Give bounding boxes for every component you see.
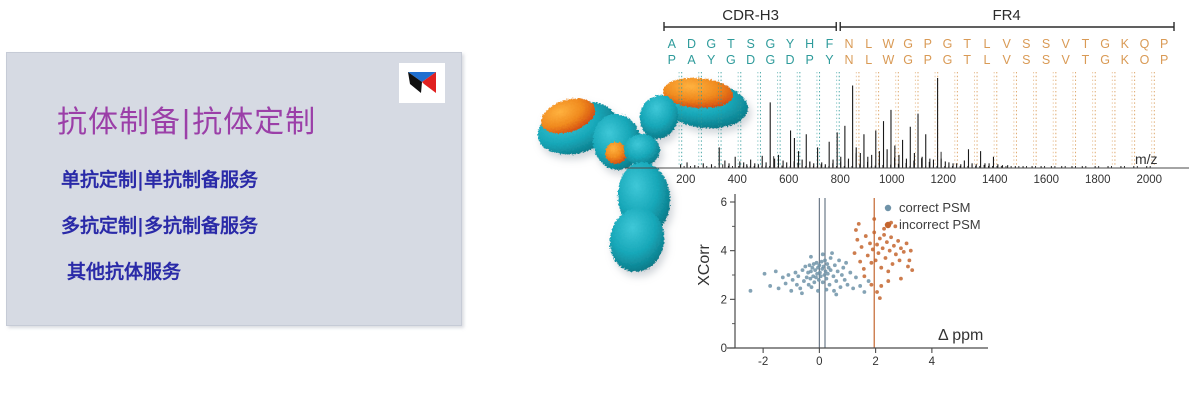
sequence-residue: G — [943, 37, 953, 51]
scatter-point-incorrect — [889, 235, 893, 239]
scatter-point-correct — [789, 289, 793, 293]
scatter-point-correct — [801, 268, 805, 272]
scatter-point-incorrect — [885, 240, 889, 244]
sequence-residue: S — [1022, 53, 1030, 67]
scatter-point-correct — [749, 289, 753, 293]
region-label-fr4: FR4 — [992, 7, 1020, 24]
scatter-point-correct — [768, 284, 772, 288]
legend-label: correct PSM — [899, 200, 971, 215]
sequence-residue: S — [746, 37, 754, 51]
spectrum-x-tick-label: 200 — [676, 174, 695, 186]
spectrum-x-tick-label: 1400 — [982, 174, 1008, 186]
spectrum-x-tick-label: 1600 — [1033, 174, 1059, 186]
scatter-point-incorrect — [854, 228, 858, 232]
sequence-residue: A — [687, 53, 696, 67]
scatter-y-tick-label: 6 — [721, 197, 727, 209]
sequence-row-1: ADGTSGYHFNLWGPGTLVSSVTGKQP — [668, 37, 1169, 51]
scatter-y-tick-label: 4 — [721, 246, 728, 258]
sequence-residue: P — [924, 53, 932, 67]
sequence-residue: P — [924, 37, 932, 51]
scatter-point-correct — [830, 251, 834, 255]
scatter-point-correct — [825, 288, 829, 292]
sequence-residue: V — [1002, 37, 1011, 51]
scatter-point-correct — [817, 263, 821, 267]
scatter-point-incorrect — [853, 251, 857, 255]
scatter-point-incorrect — [855, 238, 859, 242]
scatter-point-correct — [844, 261, 848, 265]
scatter-point-incorrect — [872, 231, 876, 235]
spectrum-x-tick-label: 800 — [831, 174, 850, 186]
scatter-point-correct — [784, 282, 788, 286]
scatter-y-tick-label: 0 — [721, 343, 727, 355]
scatter-point-incorrect — [875, 290, 879, 294]
scatter-point-correct — [826, 272, 830, 276]
legend-marker — [885, 205, 891, 211]
scatter-point-incorrect — [886, 269, 890, 273]
scatter-point-incorrect — [882, 233, 886, 237]
scatter-point-incorrect — [881, 246, 885, 250]
sequence-residue: K — [1121, 53, 1130, 67]
sequence-residue: P — [668, 53, 676, 67]
scatter-point-incorrect — [878, 296, 882, 300]
scatter-point-correct — [777, 286, 781, 290]
scatter-point-incorrect — [877, 251, 881, 255]
scatter-point-correct — [862, 290, 866, 294]
screenshot-root: 抗体制备|抗体定制 单抗定制|单抗制备服务 多抗定制|多抗制备服务 其他抗体服务 — [0, 0, 1200, 400]
sequence-residue: T — [727, 37, 735, 51]
scatter-point-incorrect — [862, 274, 866, 278]
scatter-x-tick-label: 0 — [816, 356, 822, 368]
sequence-residue: D — [785, 53, 794, 67]
scatter-point-correct — [809, 255, 813, 259]
scatter-point-correct — [823, 259, 827, 263]
scatter-point-correct — [816, 289, 820, 293]
spectrum-x-axis-label: m/z — [1135, 151, 1158, 167]
scatter-point-correct — [805, 276, 809, 280]
sequence-residue: G — [903, 37, 913, 51]
scatter-point-correct — [810, 285, 814, 289]
scatter-point-incorrect — [906, 265, 910, 269]
scatter-x-tick-label: 4 — [929, 356, 936, 368]
spectrum-x-ticks: 200400600800100012001400160018002000 — [676, 174, 1162, 186]
sequence-residue: D — [687, 37, 696, 51]
scatter-point-correct — [843, 278, 847, 282]
scatter-point-correct — [846, 283, 850, 287]
scatter-point-incorrect — [872, 217, 876, 221]
scatter-point-correct — [787, 273, 791, 277]
scatter-point-incorrect — [888, 249, 892, 253]
scatter-point-correct — [867, 279, 871, 283]
scatter-point-incorrect — [882, 227, 886, 231]
spectrum-x-tick-label: 400 — [728, 174, 747, 186]
scatter-point-correct — [829, 256, 833, 260]
sequence-residue: L — [983, 53, 990, 67]
scatter-point-incorrect — [860, 245, 864, 249]
scatter-point-correct — [825, 277, 829, 281]
region-label-cdr-h3: CDR-H3 — [722, 7, 779, 24]
scatter-point-incorrect — [905, 241, 909, 245]
antibody-figure: CDR-H3 FR4 ADGTSGYHFNLWGPGTLVSSVTGKQP PA… — [520, 0, 1200, 400]
figure-canvas: CDR-H3 FR4 ADGTSGYHFNLWGPGTLVSSVTGKQP PA… — [520, 0, 1200, 400]
scatter-point-incorrect — [884, 256, 888, 260]
scatter-point-correct — [774, 269, 778, 273]
promo-link-polyclonal[interactable]: 多抗定制|多抗制备服务 — [61, 211, 258, 238]
scatter-point-correct — [819, 274, 823, 278]
scatter-point-incorrect — [893, 224, 897, 228]
sequence-row-2: PAYGDGDPYNLWGPGTLVSSVTGKOP — [668, 53, 1169, 67]
scatter-point-correct — [821, 280, 825, 284]
scatter-point-correct — [834, 293, 838, 297]
scatter-point-incorrect — [871, 248, 875, 252]
sequence-residue: T — [963, 53, 971, 67]
scatter-point-incorrect — [858, 260, 862, 264]
sequence-residue: G — [765, 53, 775, 67]
sequence-residue: Y — [786, 37, 795, 51]
page-title: 抗体制备|抗体定制 — [57, 97, 316, 141]
scatter-point-correct — [828, 283, 832, 287]
sequence-residue: L — [865, 53, 872, 67]
sequence-residue: V — [1062, 37, 1071, 51]
spectrum-x-tick-label: 1800 — [1085, 174, 1111, 186]
sequence-residue: V — [1002, 53, 1011, 67]
sequence-residue: P — [1160, 53, 1168, 67]
scatter-point-correct — [851, 286, 855, 290]
scatter-point-correct — [839, 285, 843, 289]
scatter-point-correct — [798, 286, 802, 290]
scatter-point-correct — [817, 278, 821, 282]
fragment-ion-droplines — [679, 72, 1154, 166]
scatter-point-correct — [809, 269, 813, 273]
scatter-point-correct — [832, 274, 836, 278]
scatter-points-correct — [749, 251, 871, 296]
scatter-point-incorrect — [870, 261, 874, 265]
scatter-point-correct — [781, 276, 785, 280]
scatter-plot: 0246 -2024 XCorr Δ ppm correct PSMincorr… — [696, 194, 988, 368]
scatter-point-correct — [763, 272, 767, 276]
scatter-point-correct — [854, 276, 858, 280]
scatter-x-ticks: -2024 — [758, 348, 936, 368]
scatter-point-incorrect — [875, 243, 879, 247]
scatter-point-correct — [836, 269, 840, 273]
sequence-residue: Y — [825, 53, 834, 67]
scatter-point-incorrect — [857, 222, 861, 226]
scatter-y-ticks: 0246 — [721, 197, 735, 355]
scatter-point-correct — [800, 291, 804, 295]
scatter-point-incorrect — [899, 277, 903, 281]
scatter-point-incorrect — [902, 250, 906, 254]
scatter-point-correct — [837, 259, 841, 263]
scatter-point-correct — [858, 284, 862, 288]
scatter-point-incorrect — [878, 237, 882, 241]
scatter-point-correct — [832, 289, 836, 293]
scatter-point-correct — [823, 273, 827, 277]
scatter-y-axis-label: XCorr — [696, 243, 713, 285]
scatter-point-incorrect — [864, 234, 868, 238]
scatter-point-incorrect — [907, 259, 911, 263]
scatter-x-tick-label: -2 — [758, 356, 768, 368]
scatter-point-incorrect — [891, 262, 895, 266]
sequence-residue: Q — [1140, 37, 1150, 51]
scatter-point-incorrect — [870, 283, 874, 287]
scatter-point-incorrect — [894, 252, 898, 256]
logo-arrow-icon — [405, 69, 439, 97]
scatter-point-incorrect — [910, 268, 914, 272]
scatter-point-correct — [821, 252, 825, 256]
sequence-residue: W — [883, 53, 895, 67]
sequence-residue: W — [883, 37, 895, 51]
scatter-point-correct — [840, 273, 844, 277]
sequence-residue: K — [1121, 37, 1130, 51]
scatter-point-incorrect — [892, 244, 896, 248]
scatter-point-correct — [803, 265, 807, 269]
legend-label: incorrect PSM — [899, 217, 981, 232]
sequence-residue: G — [903, 53, 913, 67]
sequence-residue: S — [1022, 37, 1030, 51]
scatter-point-incorrect — [862, 267, 866, 271]
sequence-residue: F — [826, 37, 834, 51]
scatter-point-correct — [833, 263, 837, 267]
antibody-structure-render — [532, 76, 751, 277]
promo-panel: 抗体制备|抗体定制 单抗定制|单抗制备服务 多抗定制|多抗制备服务 其他抗体服务 — [6, 52, 462, 326]
spectrum-x-tick-label: 1200 — [930, 174, 956, 186]
sequence-residue: N — [845, 53, 854, 67]
scatter-point-incorrect — [899, 246, 903, 250]
sequence-residue: G — [765, 37, 775, 51]
scatter-point-correct — [794, 271, 798, 275]
scatter-point-incorrect — [909, 249, 913, 253]
sequence-residue: H — [805, 37, 814, 51]
scatter-point-correct — [796, 274, 800, 278]
sequence-residue: G — [1100, 53, 1110, 67]
sequence-residue: L — [865, 37, 872, 51]
sequence-residue: T — [1082, 37, 1090, 51]
company-logo — [399, 63, 445, 103]
sequence-residue: P — [806, 53, 814, 67]
scatter-point-correct — [820, 260, 824, 264]
scatter-point-correct — [791, 278, 795, 282]
scatter-point-incorrect — [898, 259, 902, 263]
scatter-point-correct — [822, 265, 826, 269]
promo-link-other-services[interactable]: 其他抗体服务 — [67, 257, 181, 284]
legend-marker — [885, 222, 891, 228]
alignment-region-bars: CDR-H3 FR4 — [664, 7, 1174, 31]
scatter-point-correct — [812, 280, 816, 284]
scatter-point-incorrect — [874, 259, 878, 263]
promo-link-monoclonal[interactable]: 单抗定制|单抗制备服务 — [61, 165, 258, 192]
scatter-point-correct — [825, 262, 829, 266]
spectrum-x-tick-label: 600 — [779, 174, 798, 186]
sequence-residue: G — [1100, 37, 1110, 51]
scatter-x-axis-label: Δ ppm — [938, 327, 983, 344]
sequence-residue: P — [1160, 37, 1168, 51]
sequence-residue: G — [726, 53, 736, 67]
scatter-point-incorrect — [879, 284, 883, 288]
scatter-legend: correct PSMincorrect PSM — [885, 200, 981, 232]
scatter-point-incorrect — [868, 241, 872, 245]
sequence-residue: T — [963, 37, 971, 51]
sequence-residue: T — [1082, 53, 1090, 67]
sequence-residue: S — [1042, 37, 1050, 51]
spectrum-x-tick-label: 2000 — [1136, 174, 1162, 186]
scatter-point-incorrect — [896, 239, 900, 243]
sequence-residue: L — [983, 37, 990, 51]
sequence-residue: O — [1140, 53, 1150, 67]
sequence-residue: V — [1062, 53, 1071, 67]
spectrum-x-tick-label: 1000 — [879, 174, 905, 186]
scatter-point-correct — [834, 279, 838, 283]
scatter-point-correct — [802, 279, 806, 283]
scatter-point-incorrect — [886, 279, 890, 283]
sequence-residue: A — [668, 37, 677, 51]
sequence-residue: N — [845, 37, 854, 51]
scatter-point-incorrect — [879, 266, 883, 270]
scatter-x-tick-label: 2 — [872, 356, 878, 368]
scatter-point-correct — [818, 271, 822, 275]
sequence-residue: S — [1042, 53, 1050, 67]
scatter-point-incorrect — [866, 254, 870, 258]
sequence-residue: Y — [707, 53, 716, 67]
scatter-point-correct — [841, 266, 845, 270]
sequence-residue: G — [706, 37, 716, 51]
scatter-point-correct — [848, 271, 852, 275]
scatter-y-tick-label: 2 — [721, 294, 727, 306]
sequence-residue: D — [746, 53, 755, 67]
scatter-point-correct — [795, 283, 799, 287]
scatter-point-correct — [829, 268, 833, 272]
sequence-residue: G — [943, 53, 953, 67]
